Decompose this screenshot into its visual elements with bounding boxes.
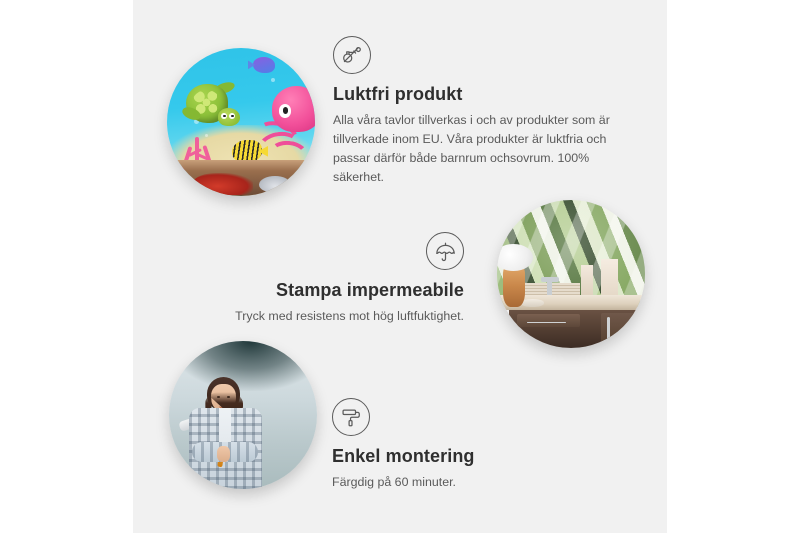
paint-roller-icon: [332, 398, 370, 436]
feature-description: Alla våra tavlor tillverkas i och av pro…: [333, 111, 633, 188]
woman-paint-roller-photo: [169, 341, 317, 489]
feature-title: Stampa impermeabile: [218, 279, 464, 302]
feature-odour-free: Luktfri produkt Alla våra tavlor tillver…: [333, 36, 633, 187]
underwater-cartoon-photo: [167, 48, 315, 196]
soap-bottle: [581, 265, 593, 298]
feature-description: Färgdig på 60 minuter.: [332, 473, 582, 492]
bubble-icon: [271, 78, 275, 82]
feature-easy-mounting: Enkel montering Färgdig på 60 minuter.: [332, 398, 582, 492]
flower-icon: [497, 244, 533, 271]
soap-dish: [521, 299, 545, 306]
no-odour-icon: [333, 36, 371, 74]
umbrella-icon: [426, 232, 464, 270]
sea-floor: [167, 160, 315, 196]
feature-description: Tryck med resistens mot hög luftfuktighe…: [218, 307, 464, 326]
turtle-icon: [182, 81, 244, 134]
vanity-cabinet: [509, 310, 645, 348]
bathroom-wallpaper-photo: [497, 200, 645, 348]
product-feature-page: Luktfri produkt Alla våra tavlor tillver…: [0, 0, 800, 533]
feature-waterproof-print: Stampa impermeabile Tryck med resistens …: [218, 232, 464, 326]
woman-figure: [184, 377, 267, 489]
feature-title: Enkel montering: [332, 445, 582, 468]
vase: [503, 265, 525, 306]
blue-fish-icon: [253, 57, 275, 73]
feature-title: Luktfri produkt: [333, 83, 633, 106]
